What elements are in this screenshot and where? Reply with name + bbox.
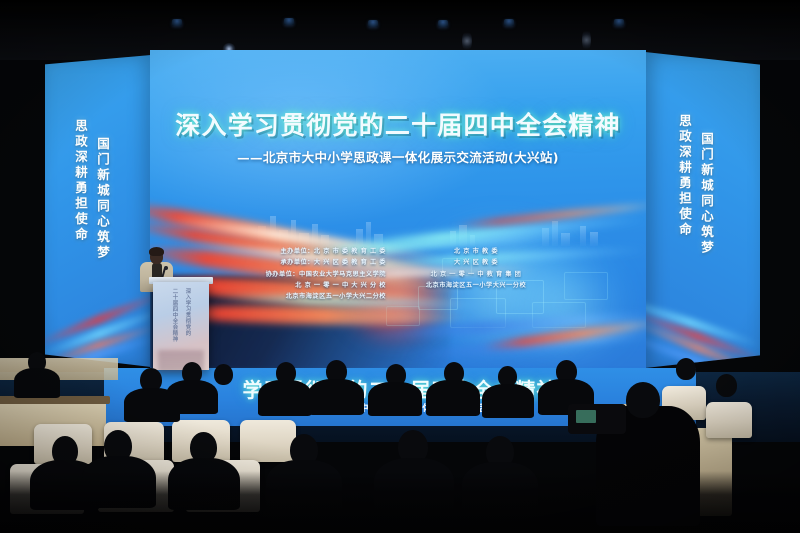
camera-viewfinder-screen: [576, 410, 596, 423]
attendee-head: [676, 358, 696, 380]
credit-line: 北 京 市 教 委: [400, 246, 552, 257]
camera-operator-head: [626, 382, 660, 418]
audience-chair: [240, 420, 296, 462]
credit-line: 北京市海淀区五一小学大兴二分校: [244, 291, 386, 302]
attendee-shoulders: [308, 379, 364, 415]
attendee-shoulders: [166, 380, 218, 414]
podium-vertical-text: 二十届四中全会精神 深入学习贯彻党的: [153, 288, 209, 344]
wing-right-slogan-line1: 思政深耕勇担使命: [675, 114, 694, 238]
wing-left-slogan-line2: 国门新城同心筑梦: [93, 137, 112, 261]
podium-text-left: 深入学习贯彻党的: [184, 288, 192, 344]
podium-text-right: 二十届四中全会精神: [171, 288, 179, 344]
attendee-shoulders: [426, 380, 480, 416]
wing-left-slogan-line1: 思政深耕勇担使命: [71, 119, 90, 243]
credit-line: 大 兴 区 教 委: [400, 257, 552, 268]
main-title: 深入学习贯彻党的二十届四中全会精神: [150, 112, 646, 140]
credit-line: 北京市海淀区五一小学大兴一分校: [400, 280, 552, 291]
screen-title-block: 深入学习贯彻党的二十届四中全会精神 ——北京市大中小学思政课一体化展示交流活动(…: [150, 112, 646, 166]
credit-line: 协办单位：中国农业大学马克思主义学院: [244, 269, 386, 280]
conference-stage-scene: 国门新城同心筑梦 思政深耕勇担使命 国门新城同心筑梦 思政深耕勇担使命: [0, 0, 800, 533]
credits-right-column: 北 京 市 教 委 大 兴 区 教 委 北 京 一 零 一 中 教 育 集 团 …: [400, 246, 552, 302]
attendee-shoulders: [482, 384, 534, 418]
led-wing-right: 国门新城同心筑梦 思政深耕勇担使命: [645, 52, 760, 368]
credits-left-column: 主办单位：北 京 市 委 教 育 工 委 承办单位：大 兴 区 委 教 育 工 …: [244, 246, 386, 302]
organizer-credits: 主办单位：北 京 市 委 教 育 工 委 承办单位：大 兴 区 委 教 育 工 …: [150, 246, 646, 302]
led-video-wall: 国门新城同心筑梦 思政深耕勇担使命 国门新城同心筑梦 思政深耕勇担使命: [0, 0, 800, 380]
wing-right-slogan-line2: 国门新城同心筑梦: [697, 132, 716, 256]
audience-chair: [706, 402, 752, 438]
main-subtitle: ——北京市大中小学思政课一体化展示交流活动(大兴站): [150, 147, 646, 166]
attendee-shoulders: [14, 368, 60, 398]
led-wing-left: 国门新城同心筑梦 思政深耕勇担使命: [45, 55, 151, 367]
credit-line: 北 京 一 零 一 中 大 兴 分 校: [244, 280, 386, 291]
attendee-shoulders: [368, 382, 422, 416]
audience-area: [0, 360, 800, 533]
wing-right-artwork: [645, 278, 760, 368]
attendee-head: [716, 374, 737, 397]
led-main-panel: 深入学习贯彻党的二十届四中全会精神 ——北京市大中小学思政课一体化展示交流活动(…: [150, 50, 646, 372]
attendee-head: [214, 364, 233, 385]
credit-line: 主办单位：北 京 市 委 教 育 工 委: [244, 246, 386, 257]
attendee-shoulders: [258, 380, 312, 416]
credit-line: 北 京 一 零 一 中 教 育 集 团: [400, 269, 552, 280]
microphone-head: [164, 266, 168, 270]
wing-left-artwork: [45, 277, 151, 367]
credit-line: 承办单位：大 兴 区 委 教 育 工 委: [244, 257, 386, 268]
speaker-hair: [149, 247, 164, 256]
